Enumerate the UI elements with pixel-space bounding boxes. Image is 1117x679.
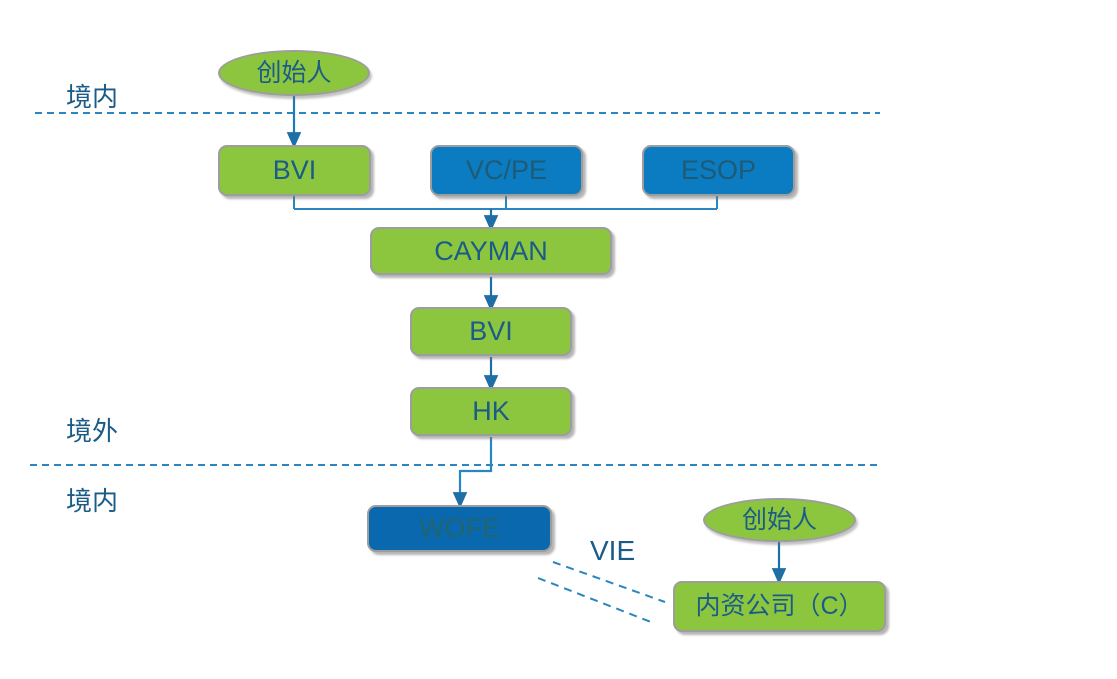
node-bvi-mid[interactable]: BVI	[410, 307, 572, 356]
edge-hk-to-wofe	[460, 437, 491, 500]
edge-vie-upper	[553, 562, 665, 602]
node-hk-label: HK	[472, 398, 510, 425]
node-cayman[interactable]: CAYMAN	[370, 227, 612, 275]
node-founder-right-label: 创始人	[742, 508, 817, 533]
node-cayman-label: CAYMAN	[434, 238, 548, 265]
region-label-onshore-bottom: 境内	[66, 488, 118, 514]
node-vcpe-label: VC/PE	[466, 157, 547, 184]
node-wofe-label: WOFE	[419, 515, 500, 542]
node-wofe[interactable]: WOFE	[367, 505, 552, 552]
region-label-onshore-top: 境内	[66, 84, 118, 110]
edge-vie-lower	[538, 578, 651, 622]
node-bvi-top-label: BVI	[273, 157, 317, 184]
node-vcpe[interactable]: VC/PE	[430, 145, 583, 196]
node-domestic-company[interactable]: 内资公司（C）	[673, 581, 886, 632]
node-esop[interactable]: ESOP	[642, 145, 795, 196]
node-bvi-mid-label: BVI	[469, 318, 513, 345]
node-founder-right[interactable]: 创始人	[703, 498, 856, 542]
node-founder-top[interactable]: 创始人	[218, 50, 370, 96]
node-domestic-company-label: 内资公司（C）	[695, 594, 863, 619]
node-hk[interactable]: HK	[410, 387, 572, 436]
node-founder-top-label: 创始人	[256, 61, 331, 86]
node-esop-label: ESOP	[681, 157, 756, 184]
diagram-canvas: 境内 境外 境内 创始人 BVI VC/PE ESOP CAYMAN BVI H…	[0, 0, 1117, 679]
region-label-offshore: 境外	[66, 418, 118, 444]
edge-label-vie: VIE	[590, 537, 635, 565]
node-bvi-top[interactable]: BVI	[218, 145, 371, 196]
